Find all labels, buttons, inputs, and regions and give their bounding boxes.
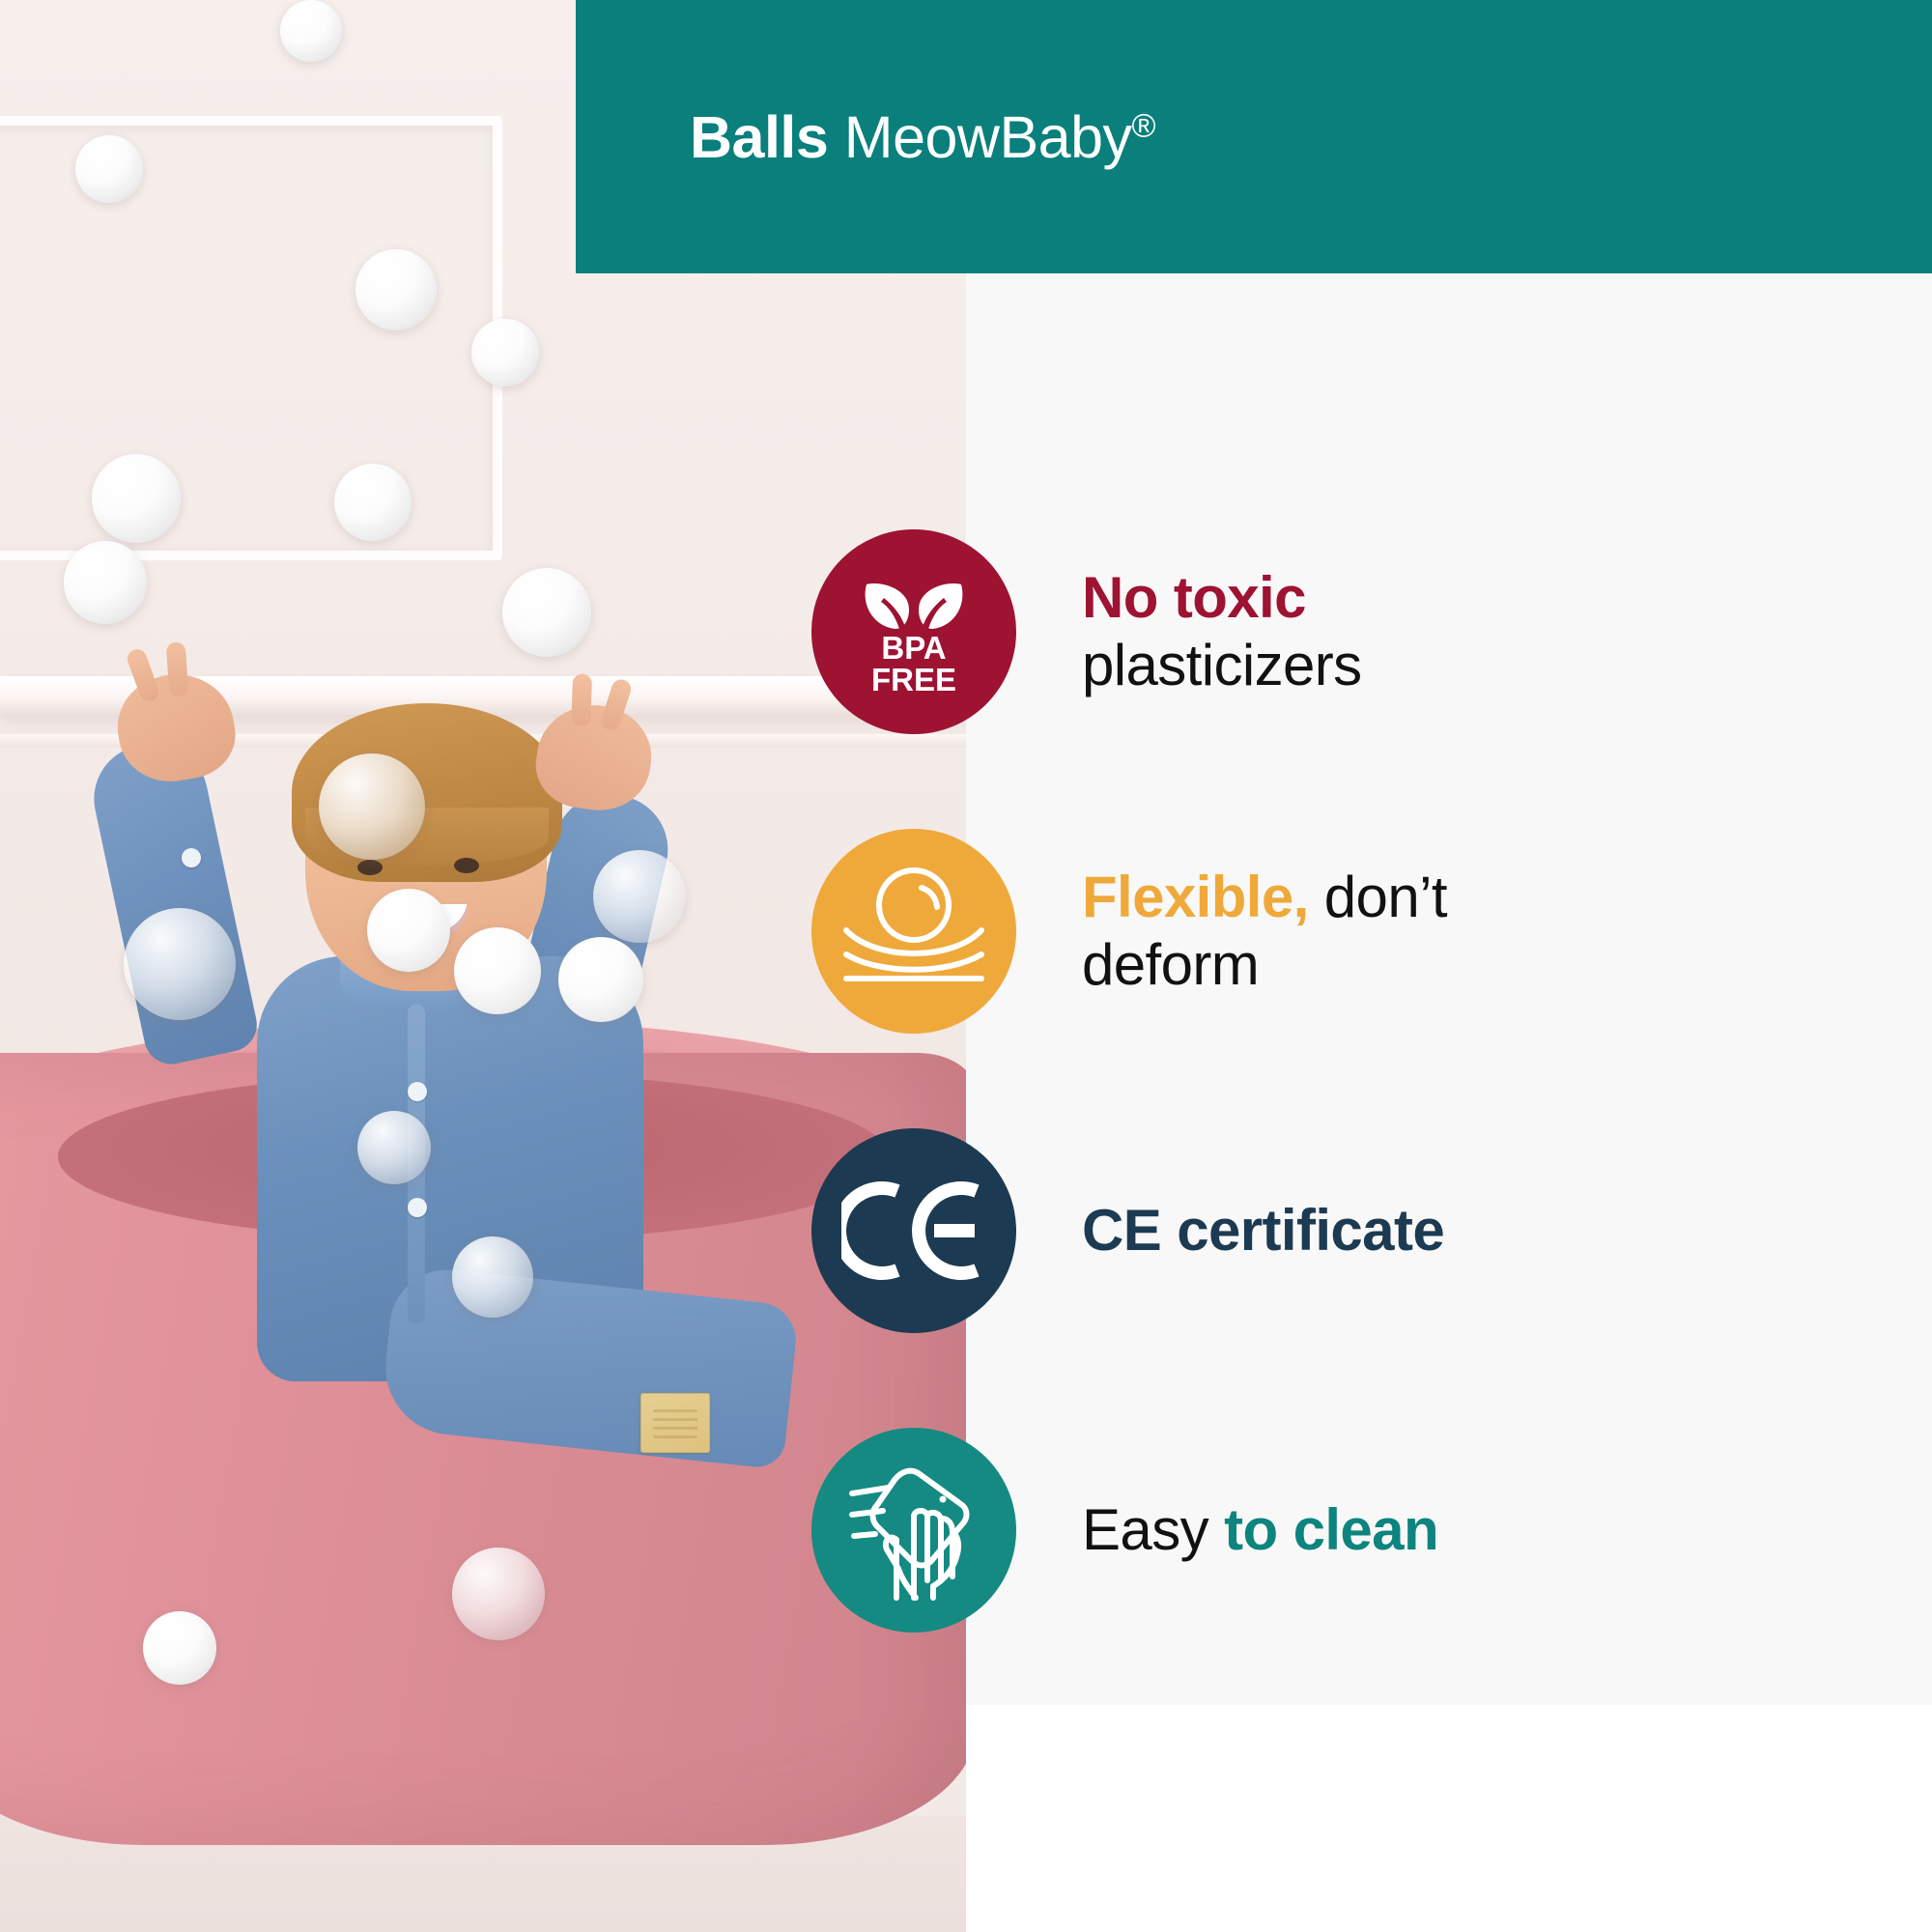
feature-highlight: Flexible, [1082, 865, 1309, 929]
feature-text-flexible: Flexible, don’t deform [1082, 864, 1447, 998]
feature-row-clean: Easy to clean [811, 1428, 1438, 1633]
feature-highlight: No toxic [1082, 565, 1306, 630]
bpa-free-icon: BPA FREE [811, 529, 1016, 734]
feature-row-flexible: Flexible, don’t deform [811, 829, 1447, 1034]
feature-highlight: Easy [1082, 1497, 1208, 1562]
feature-row-no-toxic: BPA FREE No toxic plasticizers [811, 529, 1362, 734]
feature-list: BPA FREE No toxic plasticizers [0, 0, 1932, 1932]
infographic-canvas: Balls MeowBaby® BPA FREE [0, 0, 1932, 1932]
feature-rest: to clean [1224, 1497, 1438, 1562]
feature-text-ce: CE certificate [1082, 1197, 1444, 1264]
flexible-ball-icon [811, 829, 1016, 1034]
bpa-icon-text-line2: FREE [871, 662, 956, 697]
feature-rest: don’t [1324, 865, 1447, 929]
feature-text-no-toxic: No toxic plasticizers [1082, 564, 1362, 698]
cleaning-hand-icon [811, 1428, 1016, 1633]
bpa-icon-text-line1: BPA [881, 630, 946, 666]
feature-row-ce: CE certificate [811, 1128, 1444, 1333]
ce-mark-icon [811, 1128, 1016, 1333]
feature-rest: plasticizers [1082, 633, 1362, 697]
feature-text-clean: Easy to clean [1082, 1496, 1438, 1564]
feature-rest-line2: deform [1082, 932, 1259, 997]
feature-highlight: CE certificate [1082, 1198, 1444, 1263]
